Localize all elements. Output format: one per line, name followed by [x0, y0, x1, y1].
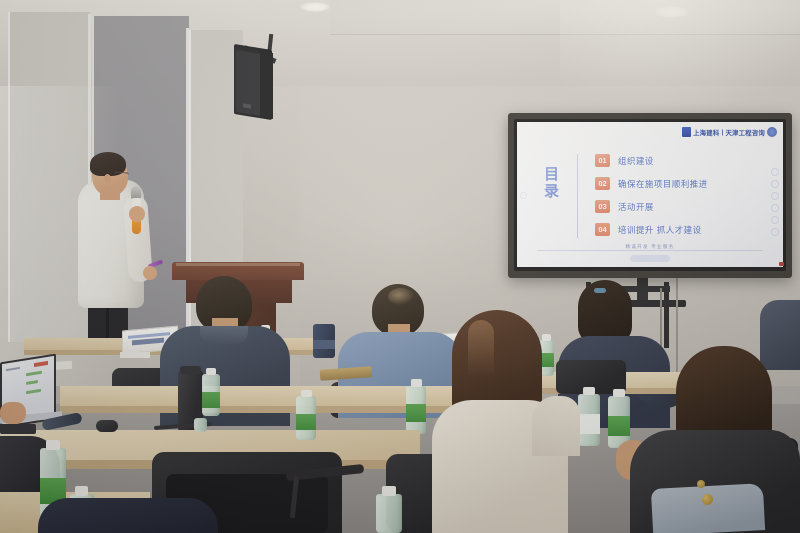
attendee-hand — [0, 402, 26, 424]
conference-room-photo: 上海建科 | 天津工程咨询 目录 01 组织建设 02 确保在施项目顺利推进 0… — [0, 0, 800, 533]
paper — [120, 352, 150, 358]
hair-tie-icon — [594, 288, 606, 293]
attendee-far-right — [760, 300, 800, 370]
bottle-cap — [613, 389, 625, 397]
bottle-cap — [542, 334, 551, 341]
tv-cable — [676, 276, 678, 380]
bottle-cap-only — [194, 418, 207, 432]
bottle-cap — [75, 486, 88, 496]
bottle-cap — [206, 368, 216, 375]
podium-highlight — [176, 263, 300, 266]
attendee-denim-garment — [651, 483, 765, 533]
thermos-cap — [180, 366, 201, 374]
bottle-label — [296, 414, 316, 430]
bottle-label — [608, 416, 630, 436]
bottle-cap — [411, 379, 422, 387]
bottle-label — [578, 414, 600, 434]
mouse-icon[interactable] — [96, 420, 118, 432]
presenter-ear — [104, 174, 111, 183]
thermos-band — [313, 340, 335, 349]
water-bottle — [376, 494, 402, 533]
bottle-cap — [46, 440, 60, 450]
presenter-hand — [143, 266, 157, 280]
button-icon — [702, 494, 713, 505]
attendee-foreground-shoulder — [38, 498, 218, 533]
ceiling-glow — [560, 0, 800, 120]
glasses-icon — [114, 171, 129, 177]
bottle-label — [406, 404, 426, 422]
button-icon — [697, 480, 705, 488]
bottle-cap — [301, 390, 312, 397]
presenter-hand — [129, 206, 145, 222]
tv-power-led-icon — [779, 262, 784, 266]
screen-glare — [517, 122, 783, 267]
tv-stand-neck — [637, 276, 648, 302]
attendee-scalp — [388, 288, 414, 305]
attendee-collar — [200, 326, 248, 344]
bottle-cap — [583, 387, 595, 395]
speaker-side — [260, 51, 273, 119]
attendee-shoulder — [532, 396, 580, 456]
bottle-cap — [382, 486, 396, 496]
binder — [0, 424, 36, 434]
downlight-icon — [300, 2, 330, 12]
bottle-label — [202, 392, 220, 408]
hair-highlight — [468, 320, 494, 390]
